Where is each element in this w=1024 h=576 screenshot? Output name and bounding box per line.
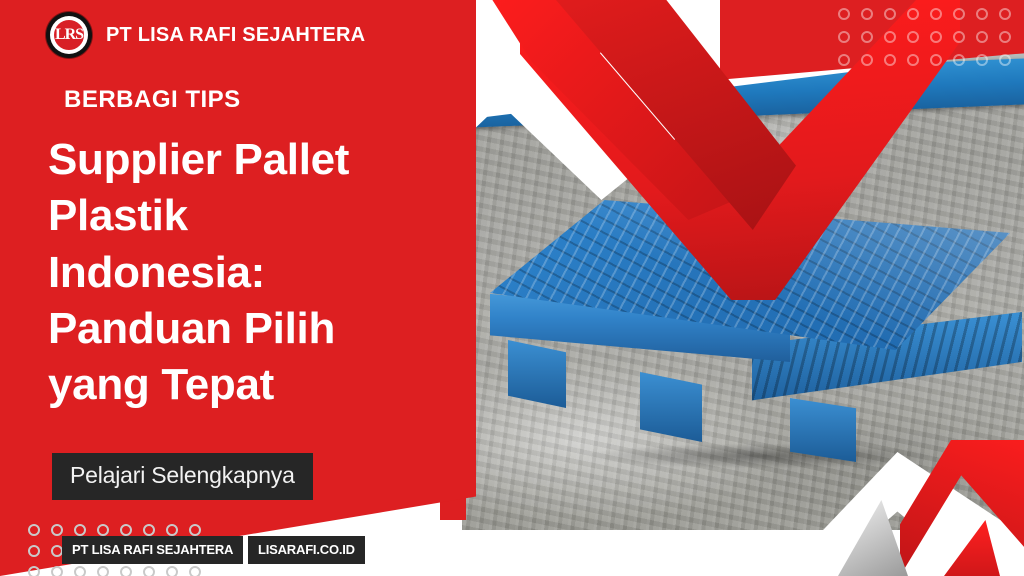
pallet-foot-3	[790, 398, 856, 462]
dot	[189, 566, 201, 576]
dot	[930, 8, 942, 20]
dot	[861, 31, 873, 43]
pallet-foot-2	[640, 372, 702, 442]
dot	[861, 8, 873, 20]
dot	[120, 566, 132, 576]
dot	[907, 8, 919, 20]
headline-line-5: yang Tepat	[48, 357, 448, 413]
dot	[999, 8, 1011, 20]
dot	[838, 8, 850, 20]
dot	[884, 31, 896, 43]
dot	[930, 31, 942, 43]
dot	[999, 54, 1011, 66]
dot	[907, 54, 919, 66]
dot	[907, 31, 919, 43]
dot-grid-top-right	[838, 8, 1022, 77]
dot	[51, 524, 63, 536]
dot	[976, 8, 988, 20]
dot	[143, 524, 155, 536]
company-name: PT LISA RAFI SEJAHTERA	[106, 24, 365, 47]
eyebrow-label: BERBAGI TIPS	[64, 86, 241, 114]
dot	[143, 566, 155, 576]
page-title: Supplier Pallet Plastik Indonesia: Pandu…	[48, 132, 448, 414]
footer-company-badge: PT LISA RAFI SEJAHTERA	[62, 536, 243, 564]
headline-line-4: Panduan Pilih	[48, 301, 448, 357]
learn-more-button[interactable]: Pelajari Selengkapnya	[52, 453, 313, 500]
dot	[976, 31, 988, 43]
headline-line-2: Plastik	[48, 188, 448, 244]
dot	[930, 54, 942, 66]
dot	[953, 54, 965, 66]
headline-line-3: Indonesia:	[48, 245, 448, 301]
dot	[953, 8, 965, 20]
dot	[999, 31, 1011, 43]
dot	[74, 566, 86, 576]
lrs-circular-badge-icon: LRS	[46, 12, 92, 58]
dot	[97, 566, 109, 576]
dot	[51, 566, 63, 576]
dot	[884, 54, 896, 66]
logo-monogram: LRS	[55, 26, 83, 44]
footer-website-badge[interactable]: LISARAFI.CO.ID	[248, 536, 365, 564]
dot	[120, 524, 132, 536]
dot	[861, 54, 873, 66]
dot	[28, 545, 40, 557]
dot	[838, 31, 850, 43]
pallet-foot-1	[508, 340, 566, 408]
dot	[884, 8, 896, 20]
dot	[166, 524, 178, 536]
banner-canvas: LRS PT LISA RAFI SEJAHTERA BERBAGI TIPS …	[0, 0, 1024, 576]
dot	[28, 566, 40, 576]
dot	[976, 54, 988, 66]
dot	[166, 566, 178, 576]
dot	[189, 524, 201, 536]
dot	[838, 54, 850, 66]
dot	[953, 31, 965, 43]
headline-line-1: Supplier Pallet	[48, 132, 448, 188]
dot	[74, 524, 86, 536]
brand-header: LRS PT LISA RAFI SEJAHTERA	[46, 12, 365, 58]
dot	[28, 524, 40, 536]
dot	[97, 524, 109, 536]
